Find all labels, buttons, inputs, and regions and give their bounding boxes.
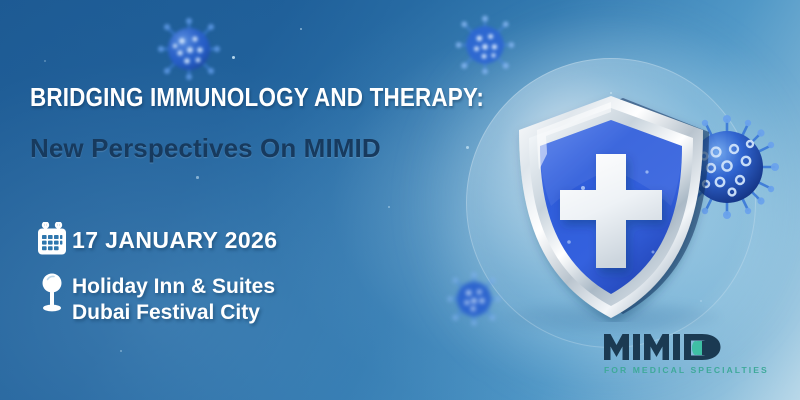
sparkle xyxy=(300,28,302,30)
calendar-icon xyxy=(36,222,68,256)
event-date-row: 17 JANUARY 2026 xyxy=(32,222,277,256)
medical-shield-icon xyxy=(497,92,725,322)
sparkle xyxy=(120,350,122,352)
venue-line-1: Holiday Inn & Suites xyxy=(72,274,275,300)
event-headline: BRIDGING IMMUNOLOGY AND THERAPY: xyxy=(30,84,408,113)
sparkle xyxy=(196,176,199,179)
location-pin-icon xyxy=(39,272,65,314)
event-subheadline: New Perspectives On MIMID xyxy=(30,133,470,164)
event-details: 17 JANUARY 2026 Holiday Inn & Suites Dub… xyxy=(32,222,277,341)
calendar-icon-wrap xyxy=(32,222,72,256)
venue-line-2: Dubai Festival City xyxy=(72,300,275,326)
capsule-icon xyxy=(692,341,719,355)
mimid-logo: FOR MEDICAL SPECIALTIES xyxy=(604,332,764,375)
event-venue: Holiday Inn & Suites Dubai Festival City xyxy=(72,272,275,325)
event-venue-row: Holiday Inn & Suites Dubai Festival City xyxy=(32,272,277,325)
sparkle xyxy=(232,56,235,59)
sparkle xyxy=(44,60,46,62)
virus-particle-icon xyxy=(452,12,518,78)
event-banner: BRIDGING IMMUNOLOGY AND THERAPY: New Per… xyxy=(0,0,800,400)
virus-particle-icon xyxy=(154,14,224,84)
mimid-wordmark xyxy=(604,332,764,362)
virus-particle-icon xyxy=(443,268,505,330)
mimid-tagline: FOR MEDICAL SPECIALTIES xyxy=(604,365,764,375)
event-date: 17 JANUARY 2026 xyxy=(72,222,277,254)
location-icon-wrap xyxy=(32,272,72,314)
sparkle xyxy=(388,206,390,208)
